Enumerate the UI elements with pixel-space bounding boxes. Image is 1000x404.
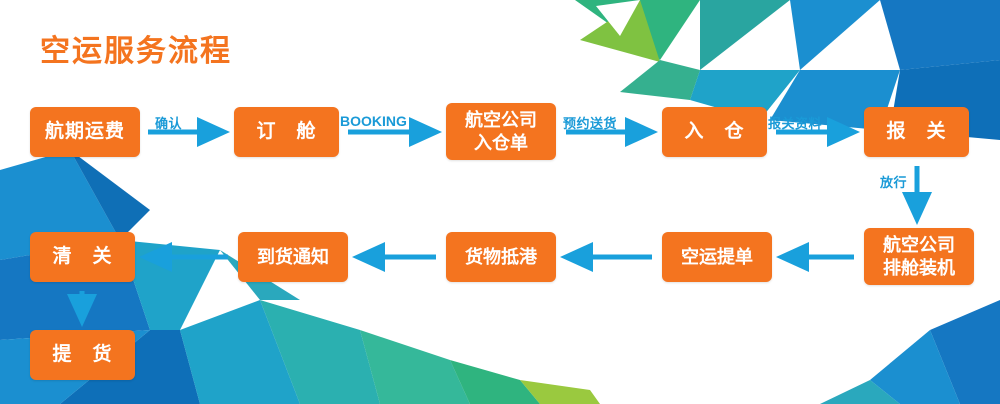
arrow-label-confirm: 确认 [155, 113, 182, 132]
arrow-label-booking: BOOKING [340, 113, 407, 129]
arrow-label-customs-documents: 报关资料 [768, 113, 822, 132]
arrow-group [0, 0, 1000, 404]
flowchart-canvas: 空运服务流程 航期运费 订 舱 航空公司 入仓单 入 仓 报 关 航空公司 排舱… [0, 0, 1000, 404]
arrow-label-release: 放行 [880, 172, 907, 191]
arrow-label-delivery-appointment: 预约送货 [563, 113, 617, 132]
